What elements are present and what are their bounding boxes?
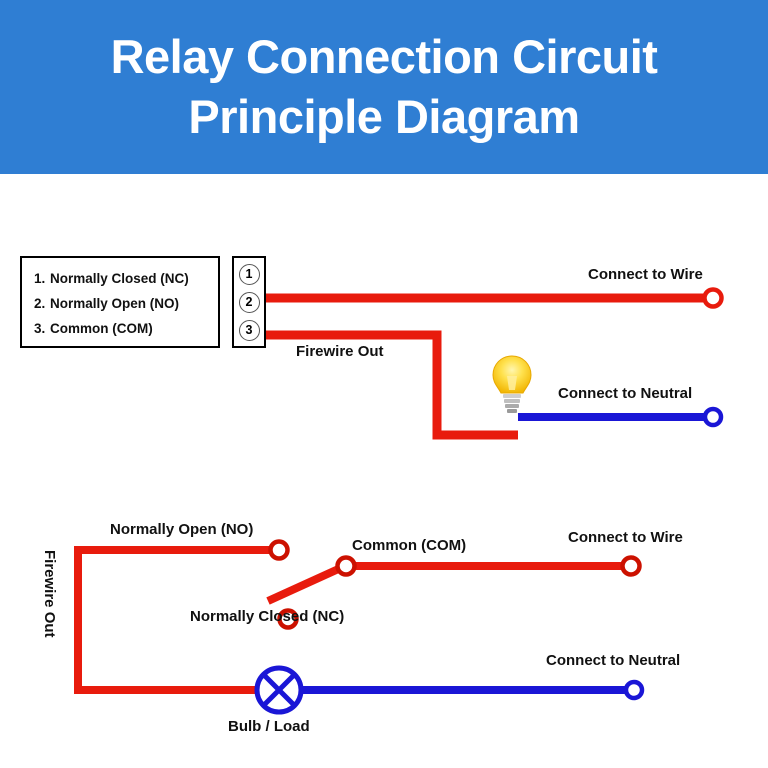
terminal-connect-to-neutral-bottom [626, 682, 642, 698]
terminal-connect-to-wire-bottom [623, 558, 640, 575]
label-connect-to-neutral-top: Connect to Neutral [558, 385, 692, 402]
label-connect-to-wire-bottom: Connect to Wire [568, 529, 683, 546]
header-banner: Relay Connection Circuit Principle Diagr… [0, 0, 768, 174]
page-title-line-2: Principle Diagram [188, 87, 579, 147]
switch-arm-common-to-nc [268, 566, 345, 601]
legend-item-no-label: Normally Open (NO) [50, 296, 179, 311]
label-firewire-out-top: Firewire Out [296, 343, 384, 360]
label-normally-closed: Normally Closed (NC) [190, 608, 344, 625]
relay-terminal-block: 1 2 3 [232, 256, 266, 348]
terminal-pin-1[interactable]: 1 [239, 264, 260, 285]
label-connect-to-neutral-bottom: Connect to Neutral [546, 652, 680, 669]
terminal-connect-to-neutral-top [705, 409, 721, 425]
legend-item-com-label: Common (COM) [50, 321, 153, 336]
legend-item-nc: 1.Normally Closed (NC) [34, 266, 218, 291]
diagram-page: Relay Connection Circuit Principle Diagr… [0, 0, 768, 768]
label-bulb-load: Bulb / Load [228, 718, 310, 735]
terminal-pin-2[interactable]: 2 [239, 292, 260, 313]
legend-item-nc-label: Normally Closed (NC) [50, 271, 189, 286]
label-common: Common (COM) [352, 537, 466, 554]
legend-item-com: 3.Common (COM) [34, 316, 218, 341]
terminal-pin-3[interactable]: 3 [239, 320, 260, 341]
terminal-common [338, 558, 355, 575]
diagram-canvas: 1.Normally Closed (NC) 2.Normally Open (… [0, 174, 768, 768]
legend-item-no: 2.Normally Open (NO) [34, 291, 218, 316]
legend-item-no-number: 2. [34, 291, 50, 316]
light-bulb-icon [489, 354, 535, 416]
terminal-normally-open [271, 542, 288, 559]
terminal-connect-to-wire-top [705, 290, 722, 307]
legend-item-com-number: 3. [34, 316, 50, 341]
legend-item-nc-number: 1. [34, 266, 50, 291]
label-connect-to-wire-top: Connect to Wire [588, 266, 703, 283]
relay-terminal-legend-box: 1.Normally Closed (NC) 2.Normally Open (… [20, 256, 220, 348]
page-title-line-1: Relay Connection Circuit [111, 27, 658, 87]
label-firewire-out-bottom: Firewire Out [41, 550, 58, 638]
label-normally-open: Normally Open (NO) [110, 521, 253, 538]
